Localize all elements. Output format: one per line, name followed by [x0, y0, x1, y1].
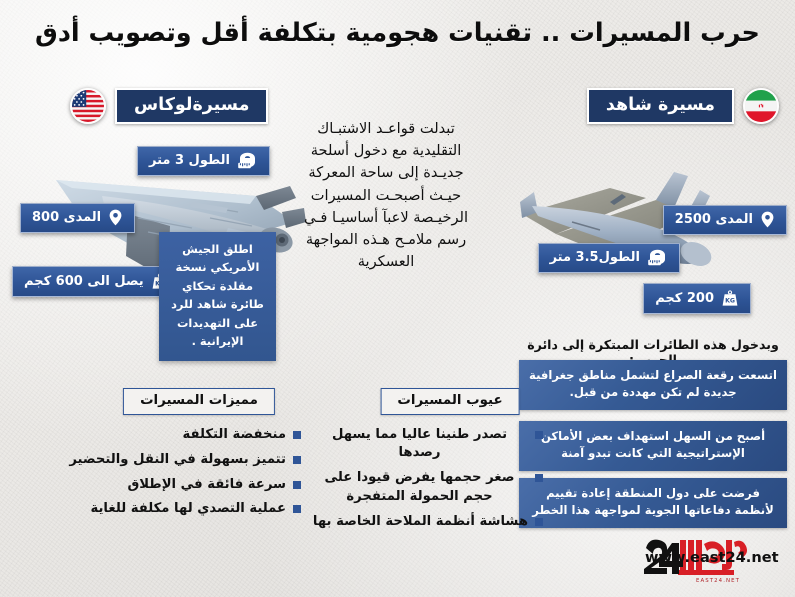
usa-flag-icon: [70, 88, 106, 124]
badge-range-right-label: المدى 2500: [675, 212, 753, 227]
pros-item-label: منخفضة التكلفة: [182, 426, 286, 444]
badge-range-left-label: المدى 800: [32, 210, 101, 225]
badge-length-left-label: الطول 3 متر: [149, 153, 230, 168]
cons-heading: عيوب المسيرات: [380, 388, 519, 415]
drone-left-header: مسيرةلوكاس: [70, 88, 268, 124]
cons-item-label: تصدر طنينا عاليا مما يسهل رصدها: [311, 426, 528, 462]
drone-left-description: اطلق الجيش الأمريكي نسخة مقلدة تحكاي طائ…: [159, 232, 276, 361]
bullet-square-icon: [535, 474, 543, 482]
pros-item-label: عملية التصدي لها مكلفة للغاية: [90, 500, 286, 518]
bullet-square-icon: [293, 505, 301, 513]
list-item: منخفضة التكلفة: [1, 426, 301, 444]
location-pin-icon: [760, 211, 775, 228]
intro-paragraph: تبدلت قواعـد الاشتبـاك التقليدية مع دخول…: [295, 118, 477, 273]
list-item: عملية التصدي لها مكلفة للغاية: [1, 500, 301, 518]
location-pin-icon: [108, 209, 123, 226]
svg-text:KG: KG: [725, 298, 735, 305]
list-item: هشاشة أنظمة الملاحة الخاصة بها: [311, 513, 543, 531]
war-item: أصبح من السهل استهداف بعض الأماكن الإستر…: [519, 421, 787, 471]
infographic-page: حرب المسيرات .. تقنيات هجومية بتكلفة أقل…: [0, 0, 795, 597]
war-item: اتسعت رقعة الصراع لتشمل مناطق جغرافية جد…: [519, 360, 787, 410]
badge-length-left: الطول 3 متر: [137, 146, 270, 176]
badge-length-right: الطول3.5 متر: [538, 243, 680, 273]
logo-subtext: EAST24.NET: [696, 578, 740, 584]
drone-right-header: مسيرة شاهد: [587, 88, 779, 124]
pros-list: منخفضة التكلفة تتميز بسهولة في النقل وال…: [1, 426, 301, 525]
badge-weight-left: KG يصل الى 600 كجم: [12, 266, 181, 297]
weight-kg-icon: KG: [721, 289, 739, 307]
bullet-square-icon: [535, 431, 543, 439]
cons-list: تصدر طنينا عاليا مما يسهل رصدها صغر حجمه…: [311, 426, 543, 538]
cons-item-label: صغر حجمها يفرض قيودا على حجم الحمولة الم…: [311, 469, 528, 505]
pros-heading: مميزات المسيرات: [123, 388, 275, 415]
war-item: فرضت على دول المنطقة إعادة تقييم لأنظمة …: [519, 478, 787, 528]
list-item: صغر حجمها يفرض قيودا على حجم الحمولة الم…: [311, 469, 543, 505]
list-item: تصدر طنينا عاليا مما يسهل رصدها: [311, 426, 543, 462]
bullet-square-icon: [293, 431, 301, 439]
website-url[interactable]: www.east24.net: [645, 549, 779, 566]
drone-right-name: مسيرة شاهد: [587, 88, 734, 124]
badge-weight-right: KG 200 كجم: [643, 283, 751, 314]
badge-range-left: المدى 800: [20, 203, 135, 233]
tape-measure-icon: [237, 152, 258, 169]
badge-weight-right-label: 200 كجم: [655, 291, 714, 306]
bullet-square-icon: [293, 456, 301, 464]
badge-length-right-label: الطول3.5 متر: [550, 250, 640, 265]
cons-item-label: هشاشة أنظمة الملاحة الخاصة بها: [313, 513, 528, 531]
badge-range-right: المدى 2500: [663, 205, 787, 235]
bullet-square-icon: [293, 481, 301, 489]
pros-item-label: سرعة فائقة في الإطلاق: [127, 476, 286, 494]
drone-left-name: مسيرةلوكاس: [115, 88, 268, 124]
iran-flag-icon: [743, 88, 779, 124]
list-item: سرعة فائقة في الإطلاق: [1, 476, 301, 494]
badge-weight-left-label: يصل الى 600 كجم: [24, 274, 144, 289]
tape-measure-icon: [647, 249, 668, 266]
bullet-square-icon: [535, 518, 543, 526]
list-item: تتميز بسهولة في النقل والتحضير: [1, 451, 301, 469]
pros-item-label: تتميز بسهولة في النقل والتحضير: [69, 451, 286, 469]
page-title: حرب المسيرات .. تقنيات هجومية بتكلفة أقل…: [0, 18, 795, 48]
